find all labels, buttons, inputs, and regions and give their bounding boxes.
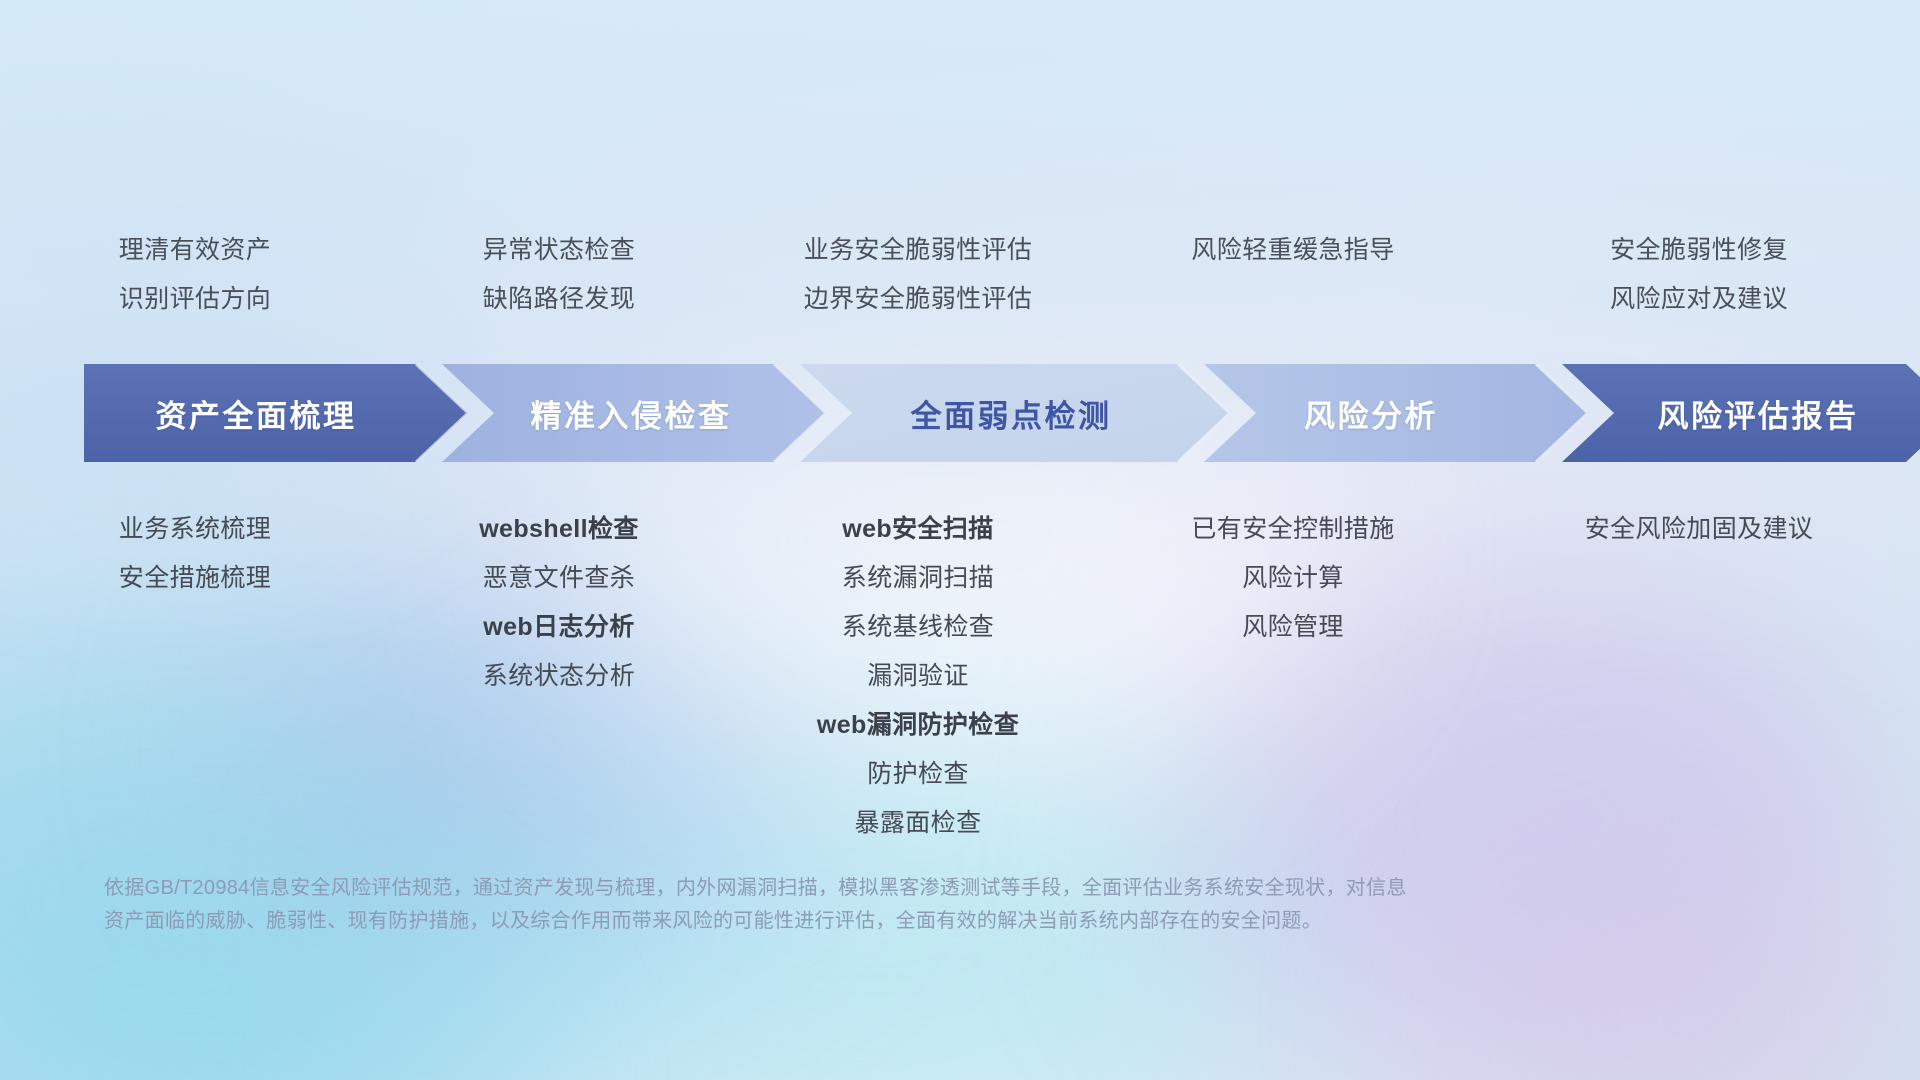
infographic-stage: 理清有效资产 识别评估方向 异常状态检查 缺陷路径发现 业务安全脆弱性评估 边界… (0, 0, 1920, 1080)
top-items-asset-review: 理清有效资产 识别评估方向 (0, 226, 390, 324)
top-item: 缺陷路径发现 (390, 275, 728, 324)
top-items-weakness-detection: 业务安全脆弱性评估 边界安全脆弱性评估 (728, 226, 1108, 324)
bottom-item: 漏洞验证 (728, 652, 1108, 701)
chevron-intrusion-check[interactable]: 精准入侵检查 (442, 364, 826, 462)
bottom-items-risk-analysis: 已有安全控制措施 风险计算 风险管理 (1108, 505, 1478, 652)
bottom-item: 风险计算 (1108, 554, 1478, 603)
top-items-risk-report: 安全脆弱性修复 风险应对及建议 (1478, 226, 1920, 324)
bottom-item: 防护检查 (728, 750, 1108, 799)
bottom-item: 暴露面检查 (728, 799, 1108, 848)
top-item: 异常状态检查 (390, 226, 728, 275)
chevron-label: 风险评估报告 (1658, 391, 1859, 436)
top-item: 边界安全脆弱性评估 (728, 275, 1108, 324)
bottom-item: 系统漏洞扫描 (728, 554, 1108, 603)
chevron-label: 资产全面梳理 (156, 391, 357, 436)
bottom-item: 安全措施梳理 (0, 554, 390, 603)
top-items-risk-analysis: 风险轻重缓急指导 (1108, 226, 1478, 324)
process-chevron-band: 资产全面梳理 精准入侵检查 (84, 364, 1858, 462)
chevron-label: 风险分析 (1304, 391, 1438, 436)
bottom-items-row: 业务系统梳理 安全措施梳理 webshell检查 恶意文件查杀 web日志分析 … (0, 505, 1920, 848)
bottom-item: 恶意文件查杀 (390, 554, 728, 603)
bottom-item: 系统基线检查 (728, 603, 1108, 652)
footer-line-1: 依据GB/T20984信息安全风险评估规范，通过资产发现与梳理，内外网漏洞扫描，… (104, 872, 1634, 905)
top-item: 风险轻重缓急指导 (1108, 226, 1478, 275)
bottom-item: 业务系统梳理 (0, 505, 390, 554)
top-item: 风险应对及建议 (1478, 275, 1920, 324)
bottom-items-weakness-detection: web安全扫描 系统漏洞扫描 系统基线检查 漏洞验证 web漏洞防护检查 防护检… (728, 505, 1108, 848)
top-item: 安全脆弱性修复 (1478, 226, 1920, 275)
top-items-intrusion-check: 异常状态检查 缺陷路径发现 (390, 226, 728, 324)
chevron-label: 全面弱点检测 (911, 391, 1112, 436)
bottom-item: 风险管理 (1108, 603, 1478, 652)
chevron-label: 精准入侵检查 (531, 391, 732, 436)
bottom-item: 系统状态分析 (390, 652, 728, 701)
top-items-row: 理清有效资产 识别评估方向 异常状态检查 缺陷路径发现 业务安全脆弱性评估 边界… (0, 226, 1920, 324)
bottom-item: web日志分析 (390, 603, 728, 652)
bottom-item: web漏洞防护检查 (728, 701, 1108, 750)
bottom-item: web安全扫描 (728, 505, 1108, 554)
bottom-items-asset-review: 业务系统梳理 安全措施梳理 (0, 505, 390, 603)
top-item: 理清有效资产 (0, 226, 390, 275)
chevron-weakness-detection[interactable]: 全面弱点检测 (800, 364, 1230, 462)
bottom-item: webshell检查 (390, 505, 728, 554)
chevron-asset-review[interactable]: 资产全面梳理 (84, 364, 468, 462)
bottom-items-risk-report: 安全风险加固及建议 (1478, 505, 1920, 554)
footer-description: 依据GB/T20984信息安全风险评估规范，通过资产发现与梳理，内外网漏洞扫描，… (104, 872, 1634, 938)
chevron-risk-report[interactable]: 风险评估报告 (1562, 364, 1920, 462)
top-item: 业务安全脆弱性评估 (728, 226, 1108, 275)
top-item: 识别评估方向 (0, 275, 390, 324)
footer-line-2: 资产面临的威胁、脆弱性、现有防护措施，以及综合作用而带来风险的可能性进行评估，全… (104, 905, 1634, 938)
bottom-item: 已有安全控制措施 (1108, 505, 1478, 554)
bottom-items-intrusion-check: webshell检查 恶意文件查杀 web日志分析 系统状态分析 (390, 505, 728, 701)
chevron-risk-analysis[interactable]: 风险分析 (1204, 364, 1588, 462)
bottom-item: 安全风险加固及建议 (1478, 505, 1920, 554)
